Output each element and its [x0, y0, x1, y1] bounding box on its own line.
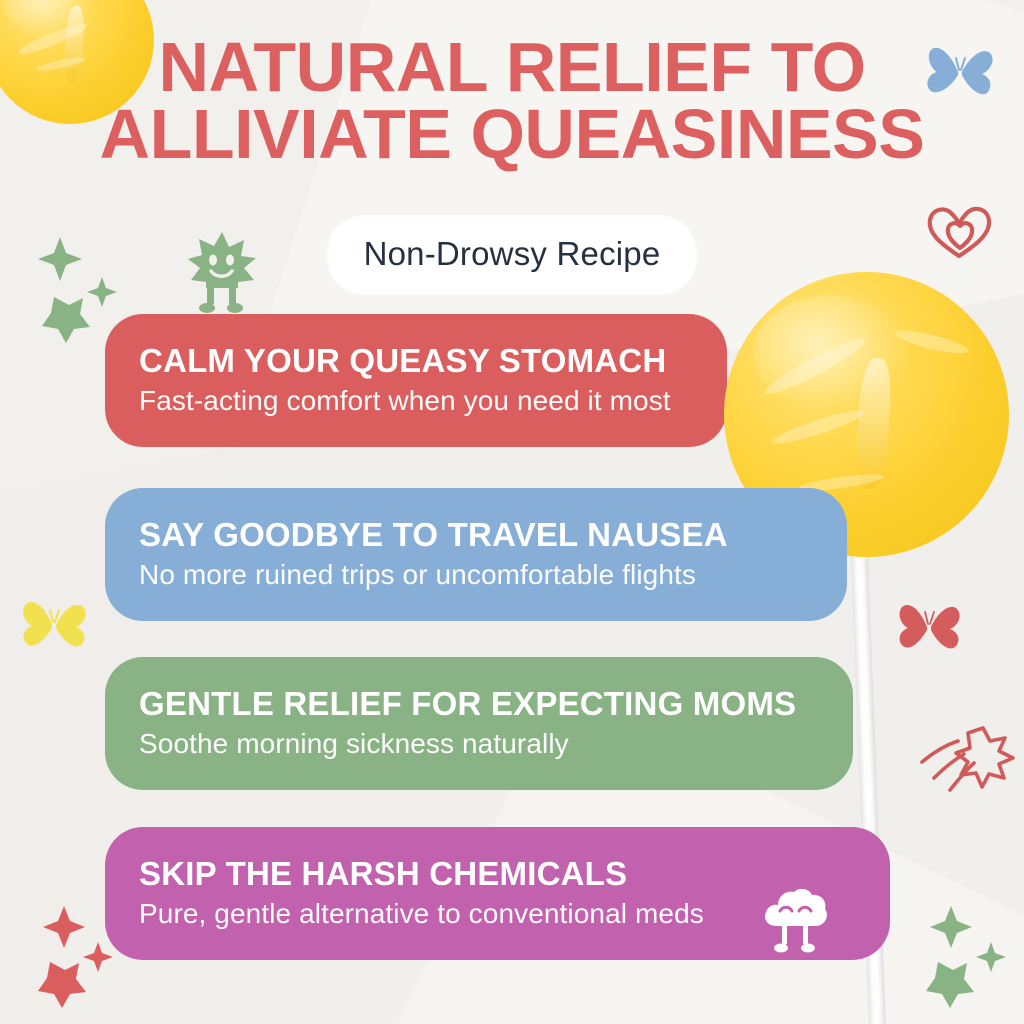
- benefit-bar-1-subtitle: Fast-acting comfort when you need it mos…: [139, 385, 693, 417]
- benefit-bar-3-subtitle: Soothe morning sickness naturally: [139, 728, 819, 760]
- subtitle-container: Non-Drowsy Recipe: [0, 226, 1024, 284]
- title-line-2: ALLIVIATE QUEASINESS: [0, 101, 1024, 168]
- benefit-bar-2[interactable]: SAY GOODBYE TO TRAVEL NAUSEA No more rui…: [105, 488, 847, 621]
- benefit-bar-2-subtitle: No more ruined trips or uncomfortable fl…: [139, 559, 813, 591]
- benefit-bar-3-title: GENTLE RELIEF FOR EXPECTING MOMS: [139, 687, 819, 722]
- benefit-bar-1-title: CALM YOUR QUEASY STOMACH: [139, 344, 693, 379]
- benefit-bar-4-subtitle: Pure, gentle alternative to conventional…: [139, 898, 856, 930]
- white-cloud-mascot-icon: [760, 886, 830, 958]
- benefit-bar-3[interactable]: GENTLE RELIEF FOR EXPECTING MOMS Soothe …: [105, 657, 853, 790]
- poster-title: NATURAL RELIEF TO ALLIVIATE QUEASINESS: [0, 34, 1024, 168]
- benefit-bar-1[interactable]: CALM YOUR QUEASY STOMACH Fast-acting com…: [105, 314, 727, 447]
- poster-canvas: NATURAL RELIEF TO ALLIVIATE QUEASINESS N…: [0, 0, 1024, 1024]
- benefit-bar-2-title: SAY GOODBYE TO TRAVEL NAUSEA: [139, 518, 813, 553]
- benefit-bar-4-title: SKIP THE HARSH CHEMICALS: [139, 857, 856, 892]
- green-star-mascot-icon: [186, 228, 258, 314]
- title-line-1: NATURAL RELIEF TO: [0, 34, 1024, 101]
- subtitle-badge: Non-Drowsy Recipe: [338, 226, 687, 284]
